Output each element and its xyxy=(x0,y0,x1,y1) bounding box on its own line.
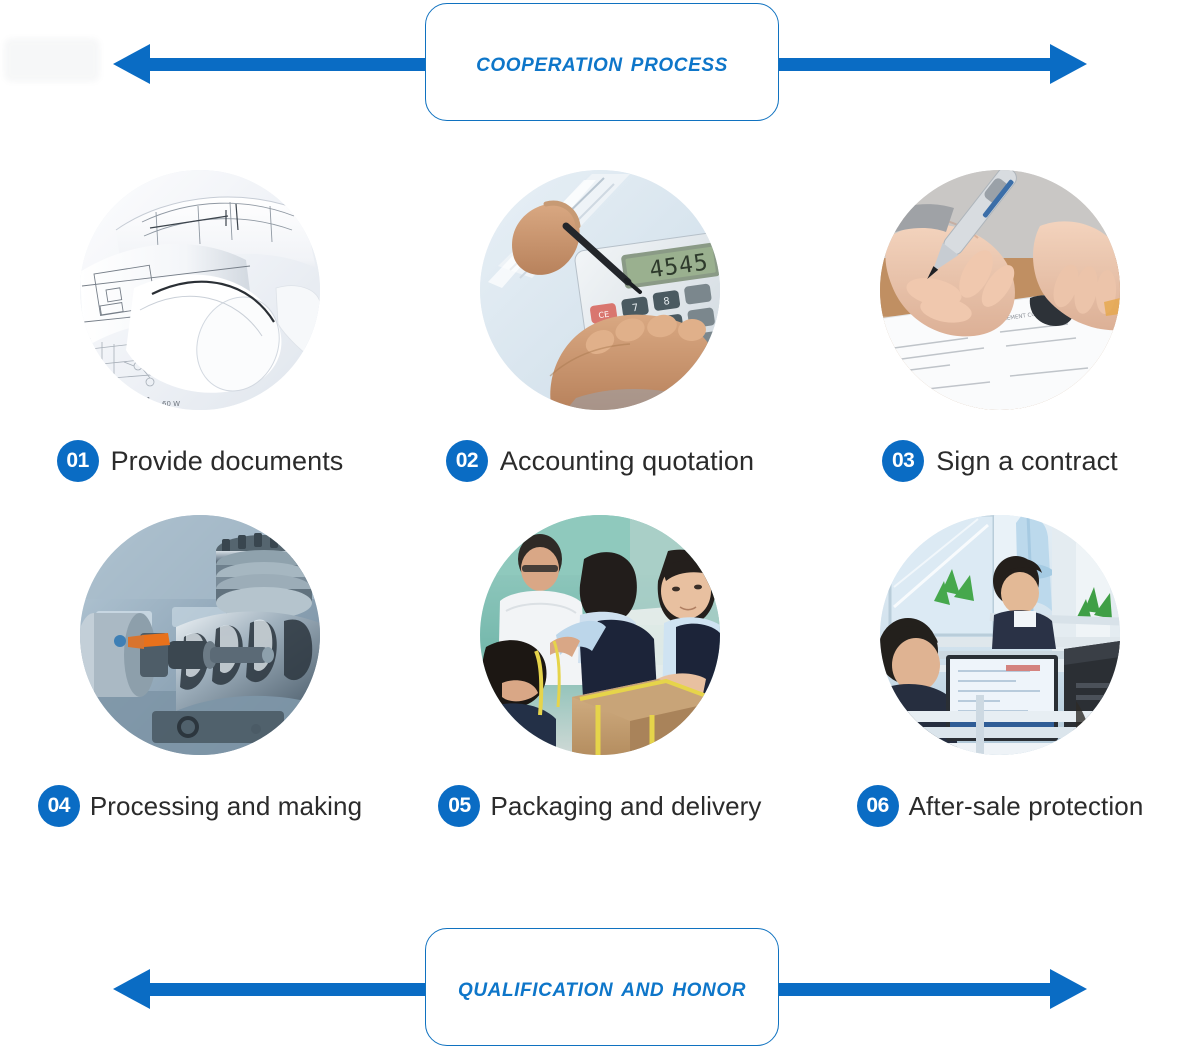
arrow-right-icon xyxy=(1050,969,1087,1009)
packaging-workers-photo xyxy=(480,515,720,755)
svg-text:b1: b1 xyxy=(142,396,151,404)
arrow-left-bar xyxy=(148,983,436,996)
process-step-02[interactable]: 4545 CE ON xyxy=(400,170,800,500)
step-caption: 06 After-sale protection xyxy=(800,783,1200,829)
svg-text:CE: CE xyxy=(598,310,610,320)
step-label: Accounting quotation xyxy=(500,446,754,477)
contract-signing-photo: AGREEMENT CONTRACT xyxy=(880,170,1120,410)
step-label: Provide documents xyxy=(111,446,344,477)
process-step-04[interactable]: 04 Processing and making xyxy=(0,515,400,845)
cooperation-process-banner: Cooperation process xyxy=(0,0,1200,130)
arrow-right-bar xyxy=(770,58,1058,71)
office-support-photo xyxy=(880,515,1120,755)
step-number-badge: 05 xyxy=(438,785,480,827)
arrow-left-icon xyxy=(113,44,150,84)
step-caption: 01 Provide documents xyxy=(0,438,400,484)
banner-title-box: Qualification and honor xyxy=(425,928,779,1046)
step-label: Processing and making xyxy=(90,791,362,822)
qualification-and-honor-banner: Qualification and honor xyxy=(0,925,1200,1055)
step-label: Sign a contract xyxy=(936,446,1118,477)
process-steps-row-2: 04 Processing and making xyxy=(0,515,1200,845)
rolled-blueprints-photo: b1 60 W xyxy=(80,170,320,410)
step-number-badge: 06 xyxy=(857,785,899,827)
arrow-right-icon xyxy=(1050,44,1087,84)
banner-title-box: Cooperation process xyxy=(425,3,779,121)
step-number-badge: 02 xyxy=(446,440,488,482)
step-label: After-sale protection xyxy=(909,791,1144,822)
process-step-03[interactable]: AGREEMENT CONTRACT xyxy=(800,170,1200,500)
step-number-badge: 01 xyxy=(57,440,99,482)
cnc-machining-photo xyxy=(80,515,320,755)
step-number-badge: 03 xyxy=(882,440,924,482)
process-steps-row-1: b1 60 W xyxy=(0,170,1200,500)
calculator-hands-photo: 4545 CE ON xyxy=(480,170,720,410)
process-step-05[interactable]: 05 Packaging and delivery xyxy=(400,515,800,845)
step-label: Packaging and delivery xyxy=(490,791,761,822)
arrow-left-icon xyxy=(113,969,150,1009)
step-caption: 03 Sign a contract xyxy=(800,438,1200,484)
arrow-right-bar xyxy=(770,983,1058,996)
arrow-left-bar xyxy=(148,58,436,71)
process-steps-grid: b1 60 W xyxy=(0,170,1200,870)
svg-text:60 W: 60 W xyxy=(162,400,180,408)
step-number-badge: 04 xyxy=(38,785,80,827)
process-step-06[interactable]: 06 After-sale protection xyxy=(800,515,1200,845)
step-caption: 02 Accounting quotation xyxy=(400,438,800,484)
page-title: Cooperation process xyxy=(476,47,728,78)
step-caption: 05 Packaging and delivery xyxy=(400,783,800,829)
process-step-01[interactable]: b1 60 W xyxy=(0,170,400,500)
section-title: Qualification and honor xyxy=(458,972,746,1003)
step-caption: 04 Processing and making xyxy=(0,783,400,829)
